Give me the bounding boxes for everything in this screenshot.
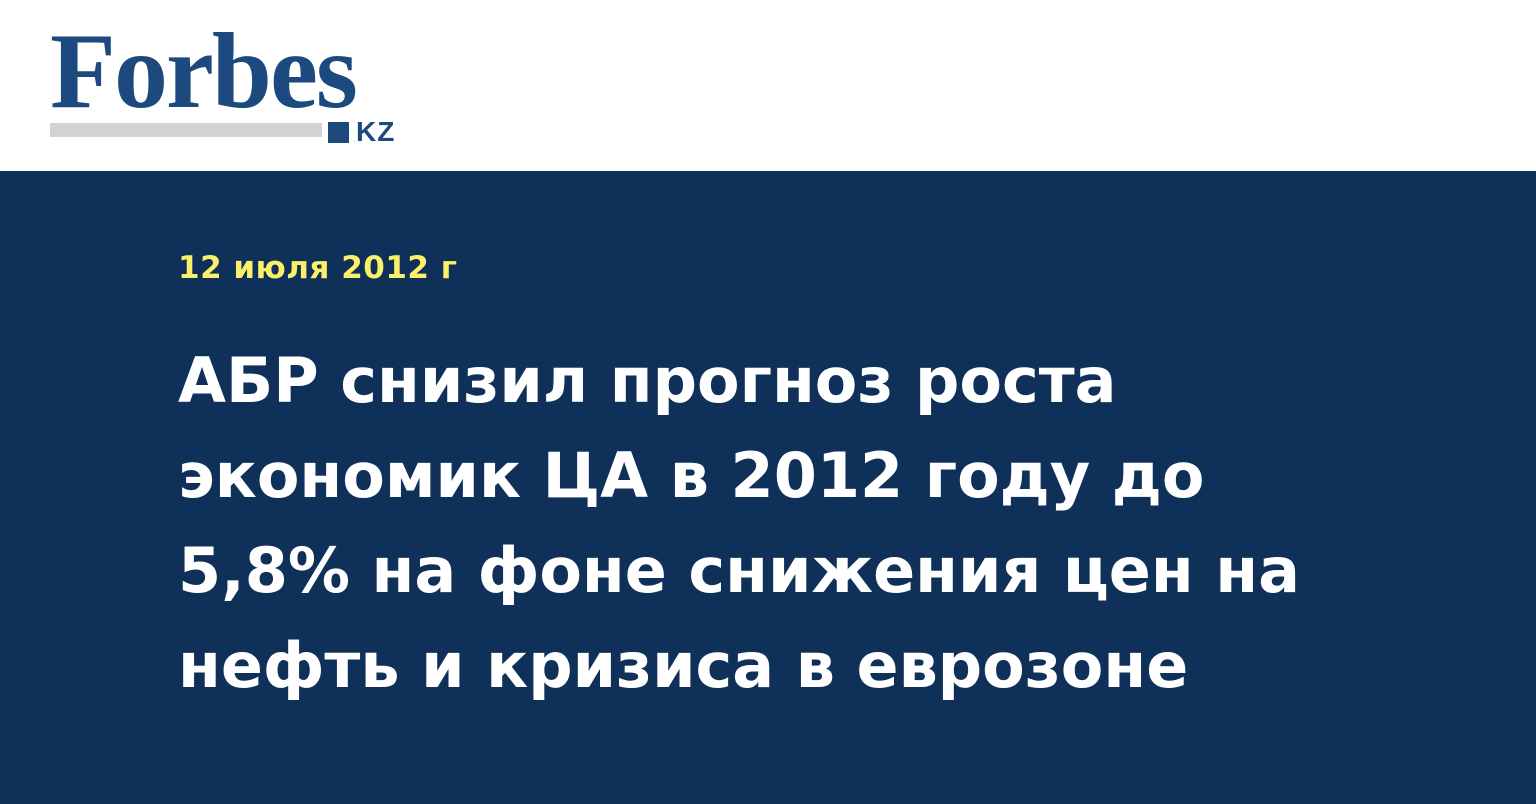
article-hero-page: Forbes KZ 12 июля 2012 г АБР снизил прог… xyxy=(0,0,1536,804)
logo-wordmark: Forbes xyxy=(50,18,356,126)
article-publish-date: 12 июля 2012 г xyxy=(178,171,1378,285)
logo-kz-suffix: KZ xyxy=(356,118,395,146)
blue-square-icon xyxy=(328,122,349,143)
site-header: Forbes KZ xyxy=(0,0,1536,171)
forbes-kz-logo[interactable]: Forbes KZ xyxy=(50,18,420,148)
article-hero-banner: 12 июля 2012 г АБР снизил прогноз роста … xyxy=(0,171,1536,804)
article-headline: АБР снизил прогноз роста экономик ЦА в 2… xyxy=(178,285,1363,713)
article-hero-content: 12 июля 2012 г АБР снизил прогноз роста … xyxy=(178,171,1378,713)
logo-rule-divider xyxy=(50,123,322,137)
